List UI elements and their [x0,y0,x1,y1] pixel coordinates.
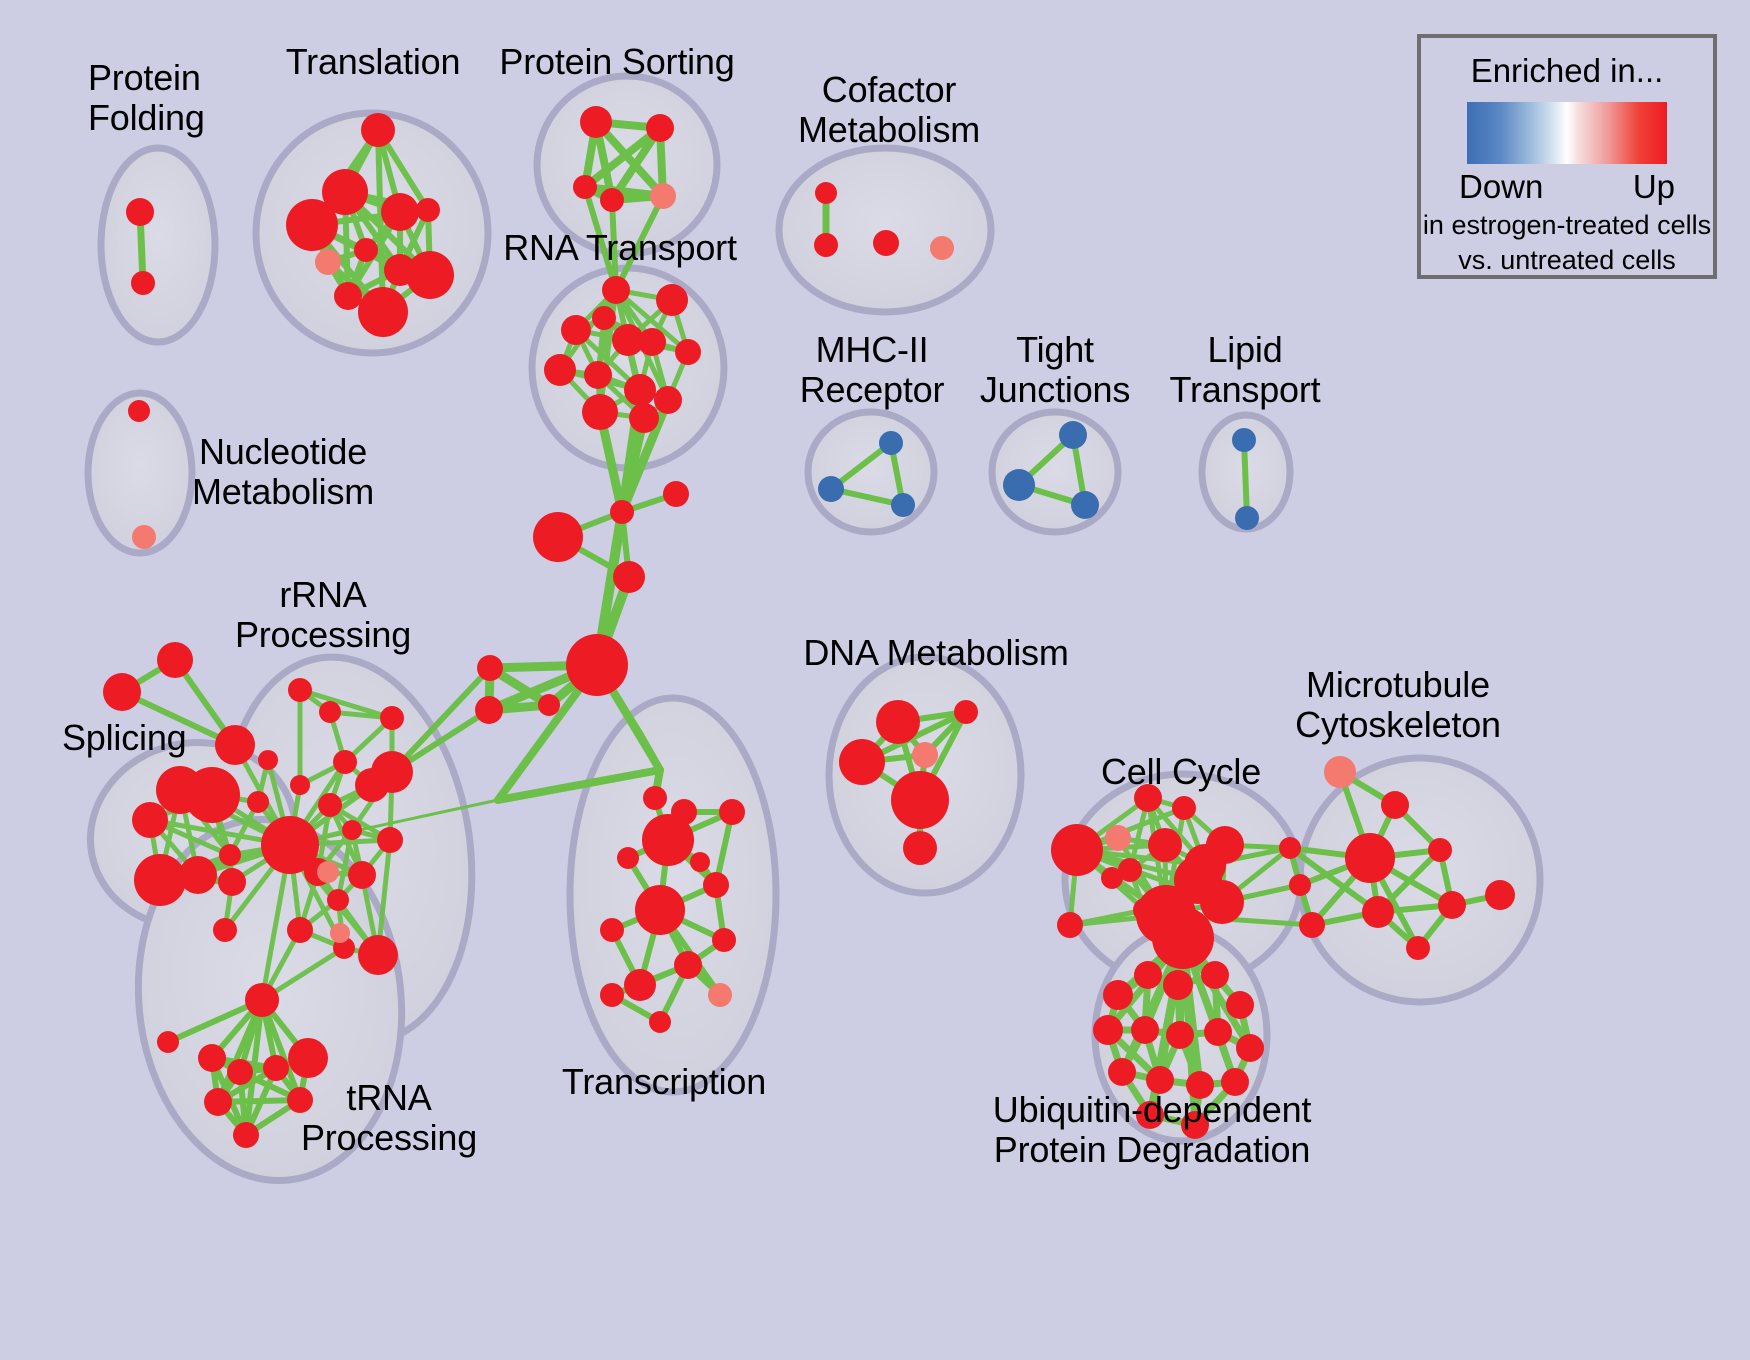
cluster-label-translation: Translation [286,42,461,82]
cluster-label-trna-processing: tRNA Processing [301,1078,477,1159]
hull-mhc-ii-receptor [808,412,934,532]
cluster-label-rna-transport: RNA Transport [503,228,737,268]
legend-up-label: Up [1633,168,1675,206]
cluster-label-nucleotide-metabolism: Nucleotide Metabolism [192,432,374,513]
enrichment-network-figure: Protein Folding Translation Protein Sort… [0,0,1750,1360]
legend-title: Enriched in... [1421,52,1713,90]
cluster-label-lipid-transport: Lipid Transport [1170,330,1321,411]
legend-endpoints: Down Up [1459,168,1675,206]
cluster-label-cell-cycle: Cell Cycle [1101,752,1261,792]
cluster-label-protein-sorting: Protein Sorting [499,42,734,82]
legend-caption-line1: in estrogen-treated cells [1421,210,1713,241]
color-scale-bar [1467,102,1667,164]
cluster-label-rrna-processing: rRNA Processing [235,575,411,656]
cluster-label-microtubule-cytoskeleton: Microtubule Cytoskeleton [1295,665,1501,746]
cluster-label-tight-junctions: Tight Junctions [980,330,1130,411]
cluster-label-mhc-ii-receptor: MHC-II Receptor [800,330,944,411]
cluster-label-transcription: Transcription [562,1062,766,1102]
cluster-label-cofactor-metabolism: Cofactor Metabolism [798,70,980,151]
legend-caption-line2: vs. untreated cells [1421,245,1713,276]
legend-down-label: Down [1459,168,1543,206]
cluster-label-ubiquitin-protein-degradation: Ubiquitin-dependent Protein Degradation [993,1090,1311,1171]
hull-protein-folding [101,148,215,342]
cluster-label-protein-folding: Protein Folding [88,58,205,139]
cluster-label-dna-metabolism: DNA Metabolism [803,633,1068,673]
cluster-label-splicing: Splicing [62,718,186,758]
legend-gradient-wrap [1467,102,1667,164]
legend-panel: Enriched in... Down Up in estrogen-treat… [1417,34,1717,279]
hull-cofactor-metabolism [779,148,991,312]
